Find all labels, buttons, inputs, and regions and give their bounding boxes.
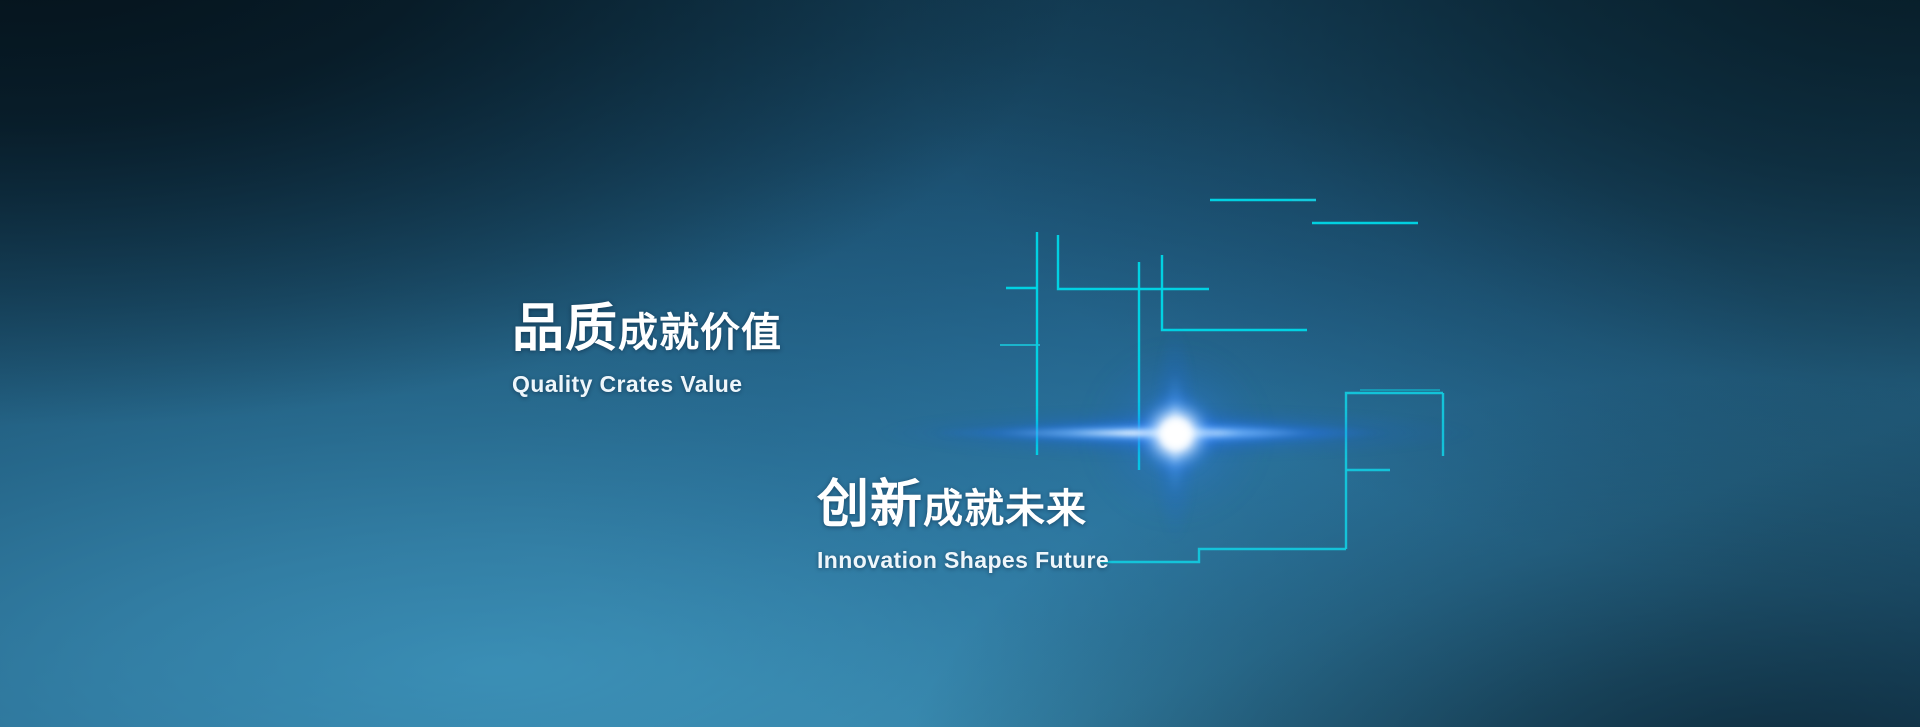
flare-hotspot — [1158, 416, 1194, 452]
network-node — [76, 28, 498, 599]
flare-core — [1133, 391, 1219, 477]
flare-vertical-beam — [1152, 325, 1198, 543]
low-poly-network-graphic — [0, 0, 1020, 727]
cyan-circuit-trace-lines — [0, 0, 1920, 727]
slogan-innovation-headline-tail: 成就未来 — [923, 487, 1087, 531]
lens-flare-star — [0, 0, 1920, 727]
flare-horizontal-core — [940, 423, 1410, 443]
slogan-quality: 品质成就价值 Quality Crates Value — [512, 303, 782, 398]
slogan-innovation-headline: 创新成就未来 — [817, 479, 1109, 531]
background-center-glow — [0, 0, 1920, 727]
hero-banner: 品质成就价值 Quality Crates Value 创新成就未来 Innov… — [0, 0, 1920, 727]
background-vignette-topleft — [0, 0, 1920, 727]
slogan-innovation: 创新成就未来 Innovation Shapes Future — [817, 479, 1109, 574]
slogan-innovation-headline-lead: 创新 — [817, 476, 923, 534]
flare-halo — [1085, 343, 1267, 525]
slogan-quality-headline-tail: 成就价值 — [618, 311, 782, 355]
slogan-quality-headline: 品质成就价值 — [512, 303, 782, 355]
slogan-quality-headline-lead: 品质 — [512, 300, 618, 358]
slogan-quality-subline: Quality Crates Value — [512, 371, 782, 398]
slogan-innovation-subline: Innovation Shapes Future — [817, 547, 1109, 574]
background-vignette-topright — [0, 0, 1920, 727]
background-vignette-bottomright — [0, 0, 1920, 727]
flare-horizontal-beam — [876, 406, 1476, 460]
background-gradient-base — [0, 0, 1920, 727]
